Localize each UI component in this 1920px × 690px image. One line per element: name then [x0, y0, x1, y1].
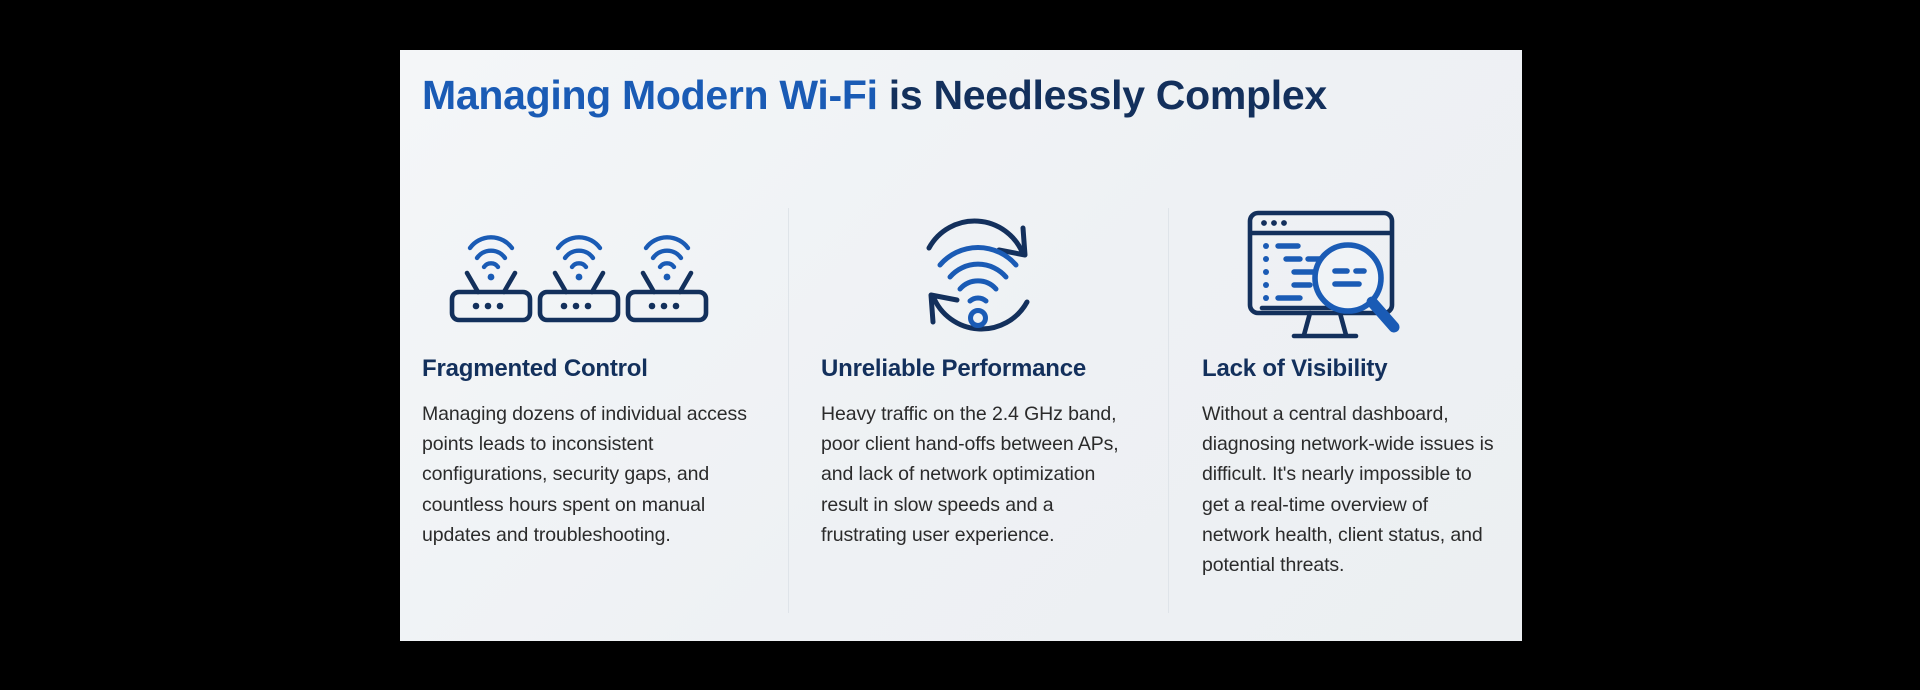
page-background: Managing Modern Wi-Fi is Needlessly Comp… [0, 0, 1920, 690]
feature-columns: Fragmented Control Managing dozens of in… [422, 205, 1500, 620]
column-body: Managing dozens of individual access poi… [422, 399, 752, 550]
page-title: Managing Modern Wi-Fi is Needlessly Comp… [422, 70, 1472, 120]
content-card: Managing Modern Wi-Fi is Needlessly Comp… [400, 50, 1522, 641]
three-wifi-routers-icon [422, 205, 752, 345]
feature-column-unreliable-performance: Unreliable Performance Heavy traffic on … [788, 205, 1168, 620]
wifi-refresh-cycle-icon [821, 205, 1135, 345]
page-title-rest: is Needlessly Complex [878, 72, 1327, 118]
column-title: Lack of Visibility [1202, 355, 1500, 383]
feature-column-lack-of-visibility: Lack of Visibility Without a central das… [1168, 205, 1500, 620]
column-title: Unreliable Performance [821, 355, 1135, 383]
column-title: Fragmented Control [422, 355, 752, 383]
page-title-highlight: Managing Modern Wi-Fi [422, 72, 878, 118]
column-body: Without a central dashboard, diagnosing … [1202, 399, 1500, 580]
column-body: Heavy traffic on the 2.4 GHz band, poor … [821, 399, 1135, 550]
feature-column-fragmented-control: Fragmented Control Managing dozens of in… [422, 205, 788, 620]
monitor-magnifier-dashboard-icon [1202, 205, 1500, 345]
